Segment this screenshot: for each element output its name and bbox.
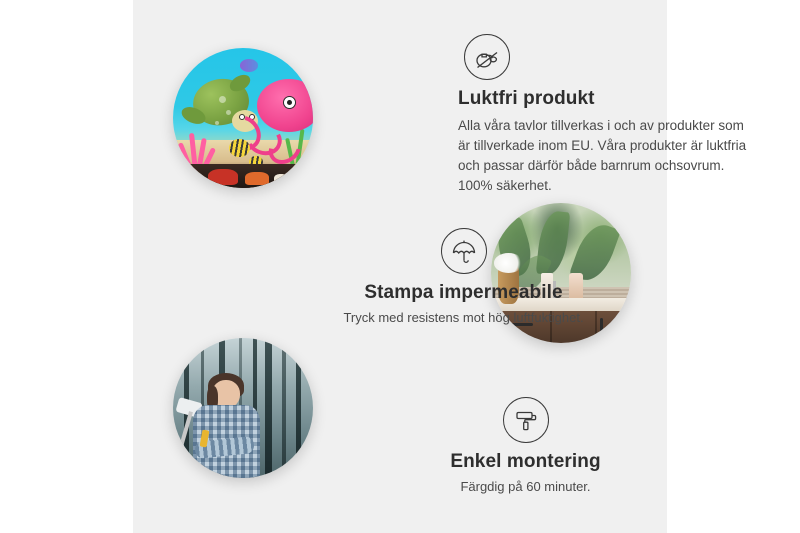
foreground-blob-orange (245, 172, 269, 185)
sea-scene (173, 48, 313, 188)
product-image-sea[interactable] (173, 48, 313, 188)
feature-block-waterproof: Stampa impermeabile Tryck med resistens … (321, 228, 606, 327)
feature-title: Stampa impermeabile (321, 282, 606, 304)
foreground-blob-red (208, 169, 239, 186)
bubble-1 (219, 96, 226, 103)
forest-scene (173, 338, 313, 478)
foreground-blob-white (274, 174, 288, 185)
umbrella-icon (441, 228, 487, 274)
bubble-3 (215, 121, 219, 125)
feature-title: Luktfri produkt (458, 88, 758, 110)
feature-description: Tryck med resistens mot hög luftfuktighe… (321, 308, 606, 327)
no-odour-spray-bottle-icon (464, 34, 510, 80)
tree-trunk-5 (265, 338, 272, 478)
paint-roller-icon (503, 397, 549, 443)
sea-foreground-strip (184, 164, 302, 188)
content-panel: Luktfri produkt Alla våra tavlor tillver… (133, 0, 667, 533)
feature-description: Färgdig på 60 minuter. (398, 477, 653, 496)
octopus-pupil (287, 100, 292, 105)
feature-block-assembly: Enkel montering Färgdig på 60 minuter. (398, 397, 653, 496)
feature-description: Alla våra tavlor tillverkas i och av pro… (458, 116, 758, 195)
fish-icon-purple (240, 59, 258, 72)
feature-block-odourless: Luktfri produkt Alla våra tavlor tillver… (458, 34, 758, 195)
bubble-2 (226, 110, 231, 115)
feature-title: Enkel montering (398, 451, 653, 473)
tree-trunk-6 (282, 338, 286, 478)
tree-trunk-7 (296, 338, 301, 478)
page-root: Luktfri produkt Alla våra tavlor tillver… (0, 0, 800, 533)
product-image-forest[interactable] (173, 338, 313, 478)
